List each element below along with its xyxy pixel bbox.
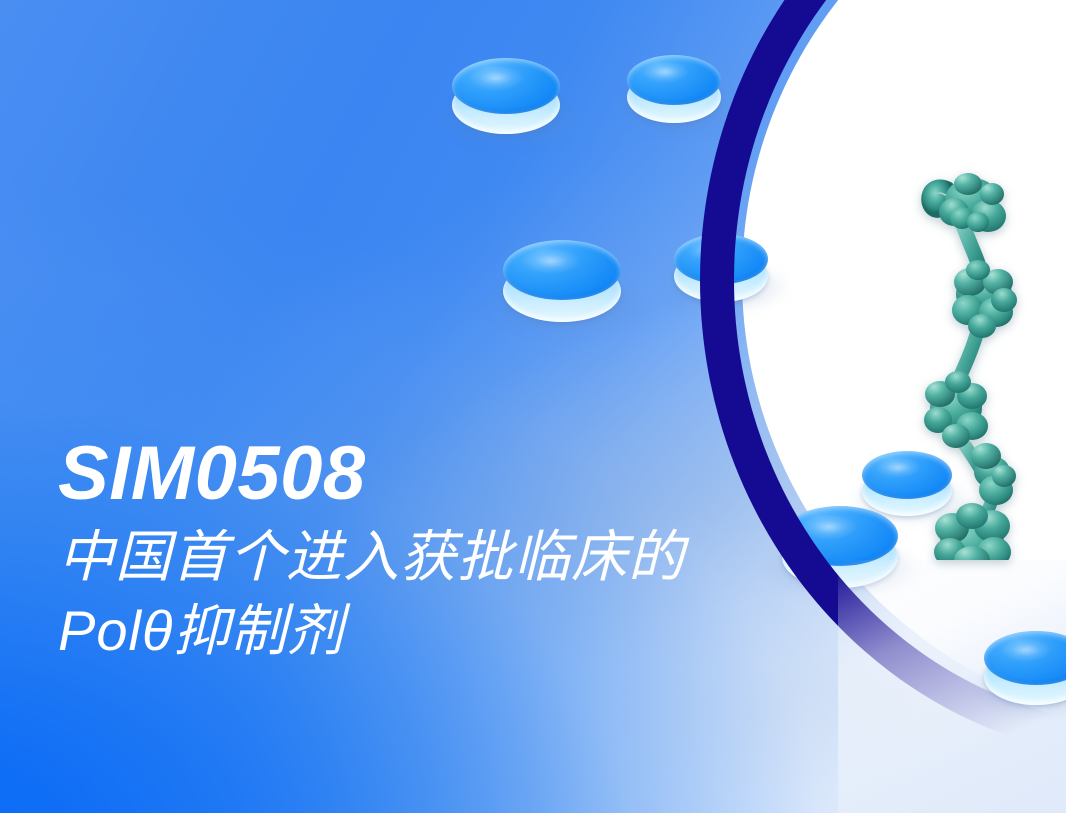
tablet-top-face [627, 55, 721, 105]
poster-text-block: SIM0508 中国首个进入获批临床的 Polθ抑制剂 [58, 436, 858, 668]
poster-canvas: SIM0508 中国首个进入获批临床的 Polθ抑制剂 [0, 0, 1066, 813]
poster-subtitle-line-2: Polθ抑制剂 [58, 594, 858, 668]
tablet-disc-1 [452, 58, 560, 136]
tablet-top-face [674, 234, 768, 284]
tablet-disc-7 [984, 631, 1066, 707]
protein-structure [900, 160, 1066, 560]
tablet-disc-4 [674, 234, 768, 304]
tablet-disc-2 [627, 55, 721, 125]
tablet-top-face [503, 240, 621, 300]
poster-subtitle: 中国首个进入获批临床的 Polθ抑制剂 [58, 520, 858, 668]
tablet-top-face [452, 58, 560, 114]
tablet-disc-3 [503, 240, 621, 324]
poster-subtitle-line-1: 中国首个进入获批临床的 [58, 520, 858, 594]
page-title: SIM0508 [58, 436, 858, 512]
